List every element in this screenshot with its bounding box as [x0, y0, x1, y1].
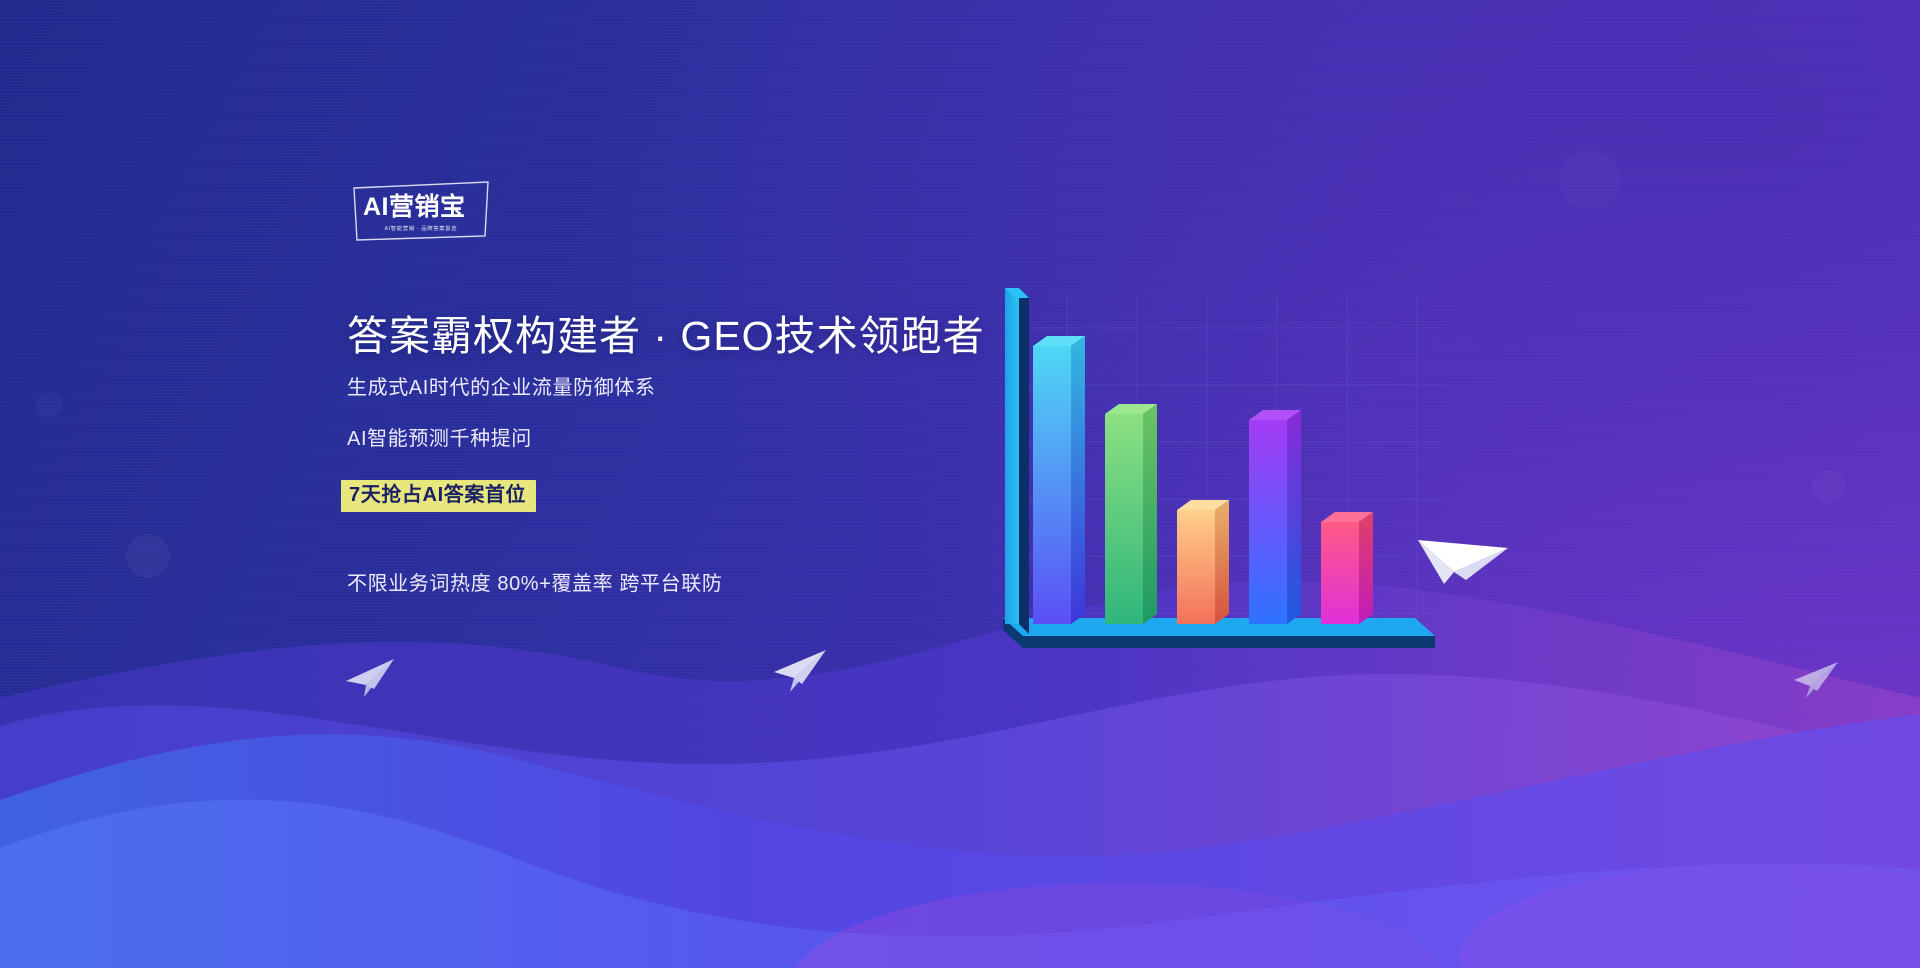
hero-subline-row: 不限业务词热度 80%+覆盖率 跨平台联防 [347, 574, 987, 594]
brand-logo[interactable]: AI营销宝 AI智能营销 · 品牌答案首选 [352, 180, 490, 242]
circle-decor-icon [36, 392, 62, 418]
hero-subline-4: 不限业务词热度 80%+覆盖率 跨平台联防 [347, 574, 987, 594]
chart-bar [1033, 336, 1085, 624]
hero-copy: 答案霸权构建者 · GEO技术领跑者 生成式AI时代的企业流量防御体系 AI智能… [347, 312, 987, 594]
hero-highlight-badge: 7天抢占AI答案首位 [341, 480, 536, 512]
hero-subline-row: 生成式AI时代的企业流量防御体系 [347, 378, 987, 398]
chart-y-axis [1005, 288, 1029, 634]
chart-bar [1321, 512, 1373, 624]
circle-decor-icon [1560, 150, 1620, 210]
paper-plane-icon [770, 648, 828, 694]
hero-subline-row: AI智能预测千种提问 [347, 429, 987, 449]
wave-decoration [0, 548, 1920, 968]
logo-wordmark: AI营销宝 [363, 195, 481, 220]
chart-bar [1105, 404, 1157, 624]
circle-decor-icon [1812, 470, 1846, 504]
chart-bar [1177, 500, 1229, 624]
hero-banner: AI营销宝 AI智能营销 · 品牌答案首选 答案霸权构建者 · GEO技术领跑者… [0, 0, 1920, 968]
logo-tagline: AI智能营销 · 品牌答案首选 [364, 224, 478, 232]
page-title: 答案霸权构建者 · GEO技术领跑者 [347, 312, 987, 360]
paper-plane-icon [1414, 518, 1510, 588]
paper-plane-icon [1790, 660, 1840, 700]
chart-bar [1249, 410, 1301, 624]
hero-subline-row: 7天抢占AI答案首位 [347, 480, 987, 543]
hero-subline-2: AI智能预测千种提问 [347, 429, 987, 449]
paper-plane-icon [340, 655, 396, 699]
hero-subline-1: 生成式AI时代的企业流量防御体系 [347, 378, 987, 398]
bar-chart-illustration [975, 288, 1475, 668]
